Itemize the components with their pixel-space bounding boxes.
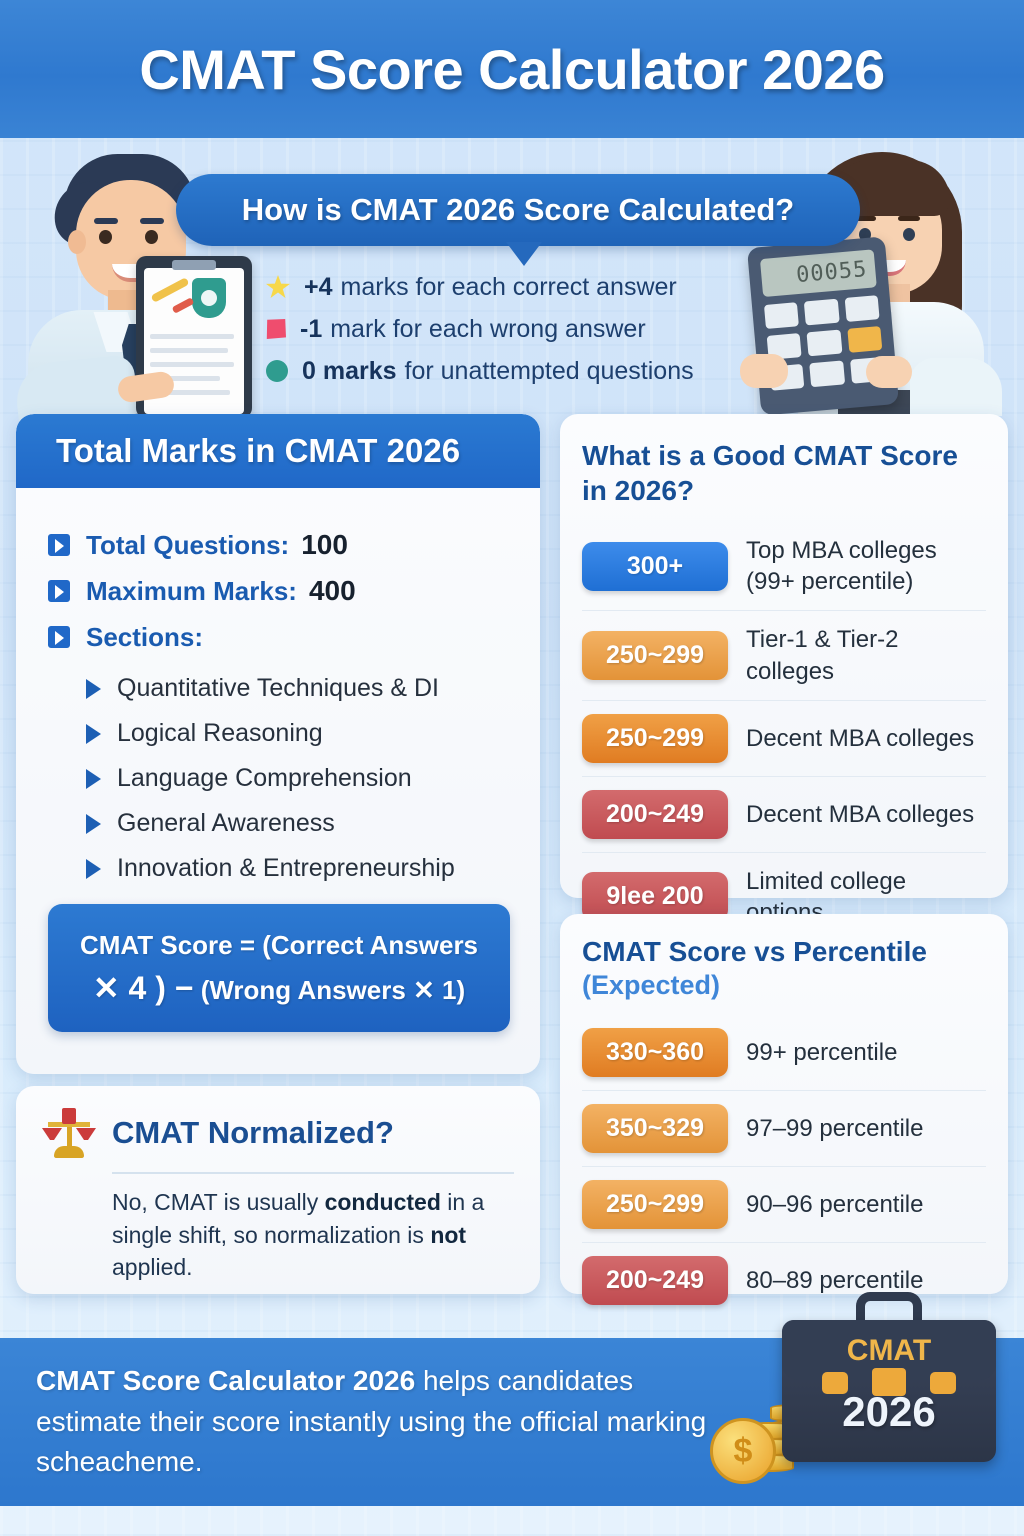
total-marks-label: Maximum Marks:	[86, 576, 297, 607]
total-marks-label: Sections:	[86, 622, 203, 653]
percentile-row: 330~360 99+ percentile	[582, 1015, 986, 1090]
sections-list: Quantitative Techniques & DI Logical Rea…	[16, 660, 540, 891]
section-item: Logical Reasoning	[86, 711, 540, 756]
section-label: Language Comprehension	[117, 764, 412, 793]
total-marks-panel: Total Marks in CMAT 2026 Total Questions…	[16, 414, 540, 1074]
total-marks-row: Maximum Marks: 400	[48, 568, 540, 614]
section-item: Innovation & Entrepreneurship	[86, 846, 540, 891]
marking-rule-value: -1	[300, 315, 322, 344]
bubble-tail	[506, 242, 542, 266]
page-header: CMAT Score Calculator 2026	[0, 0, 1024, 138]
percentile-description: 97–99 percentile	[746, 1113, 923, 1144]
balance-scales-icon	[42, 1106, 96, 1160]
section-item: General Awareness	[86, 801, 540, 846]
divider	[112, 1172, 514, 1174]
section-item: Language Comprehension	[86, 756, 540, 801]
percentile-description: 99+ percentile	[746, 1037, 897, 1068]
score-badge: 200~249	[582, 790, 728, 839]
percentile-badge: 200~249	[582, 1256, 728, 1305]
total-marks-title: Total Marks in CMAT 2026	[56, 432, 460, 470]
marking-scheme-list: +4 marks for each correct answer -1 mark…	[266, 266, 796, 392]
total-marks-row: Total Questions: 100	[48, 522, 540, 568]
percentile-panel: CMAT Score vs Percentile (Expected) 330~…	[560, 914, 1008, 1294]
percentile-rows: 330~360 99+ percentile 350~329 97–99 per…	[582, 1015, 986, 1318]
briefcase-year: 2026	[782, 1388, 996, 1436]
footer-text: CMAT Score Calculator 2026 helps candida…	[0, 1361, 730, 1483]
normalization-bold-2: not	[430, 1222, 466, 1248]
total-marks-row: Sections:	[48, 614, 540, 660]
triangle-small-icon	[86, 859, 101, 879]
percentile-row: 250~299 90–96 percentile	[582, 1166, 986, 1242]
formula-line-2: ✕ 4 ) − (Wrong Answers ✕ 1)	[93, 969, 465, 1007]
marking-rule-text: marks for each correct answer	[341, 273, 677, 302]
total-marks-value: 100	[301, 529, 348, 561]
square-marker-icon	[266, 319, 286, 339]
triangle-small-icon	[86, 724, 101, 744]
coin-symbol: $	[734, 1432, 753, 1471]
page-title: CMAT Score Calculator 2026	[139, 37, 884, 102]
marking-rule-value: +4	[304, 273, 333, 302]
score-description: Decent MBA colleges	[746, 723, 974, 754]
normalization-bold-1: conducted	[325, 1189, 441, 1215]
total-marks-header: Total Marks in CMAT 2026	[16, 414, 540, 488]
good-score-row: 200~249 Decent MBA colleges	[582, 776, 986, 852]
triangle-small-icon	[86, 679, 101, 699]
good-score-title: What is a Good CMAT Score in 2026?	[582, 438, 986, 508]
total-marks-list: Total Questions: 100 Maximum Marks: 400 …	[16, 488, 540, 660]
normalization-text-3: applied.	[112, 1254, 193, 1280]
dollar-coin-icon: $	[710, 1418, 776, 1484]
marking-rule-text: for unattempted questions	[405, 357, 694, 386]
good-score-row: 250~299 Tier-1 & Tier-2 colleges	[582, 610, 986, 699]
marking-rule: 0 marks for unattempted questions	[266, 350, 796, 392]
triangle-bullet-icon	[48, 626, 70, 648]
marking-rule: -1 mark for each wrong answer	[266, 308, 796, 350]
percentile-title: CMAT Score vs Percentile	[582, 936, 986, 968]
briefcase-icon: CMAT 2026	[782, 1292, 996, 1462]
percentile-badge: 330~360	[582, 1028, 728, 1077]
good-score-row: 250~299 Decent MBA colleges	[582, 700, 986, 776]
score-badge: 250~299	[582, 631, 728, 680]
total-marks-value: 400	[309, 575, 356, 607]
percentile-description: 90–96 percentile	[746, 1189, 923, 1220]
marking-rule-value: 0 marks	[302, 357, 397, 386]
percentile-badge: 250~299	[582, 1180, 728, 1229]
normalization-header: CMAT Normalized?	[42, 1106, 514, 1160]
calculator-display: 00055	[795, 256, 868, 287]
normalization-text-1: No, CMAT is usually	[112, 1189, 325, 1215]
illustration-band: 00055 How is CMAT 2026 Score Calculated?…	[0, 138, 1024, 410]
star-marker-icon	[266, 275, 290, 299]
percentile-row: 350~329 97–99 percentile	[582, 1090, 986, 1166]
marking-rule: +4 marks for each correct answer	[266, 266, 796, 308]
score-badge: 250~299	[582, 714, 728, 763]
normalization-panel: CMAT Normalized? No, CMAT is usually con…	[16, 1086, 540, 1294]
score-description: Tier-1 & Tier-2 colleges	[746, 624, 986, 686]
percentile-badge: 350~329	[582, 1104, 728, 1153]
triangle-bullet-icon	[48, 534, 70, 556]
question-bubble: How is CMAT 2026 Score Calculated?	[176, 174, 860, 246]
good-score-panel: What is a Good CMAT Score in 2026? 300+ …	[560, 414, 1008, 898]
good-score-rows: 300+ Top MBA colleges (99+ percentile) 2…	[582, 522, 986, 941]
formula-line-2b: (Wrong Answers ✕ 1)	[201, 975, 465, 1005]
section-item: Quantitative Techniques & DI	[86, 666, 540, 711]
briefcase-label: CMAT	[782, 1334, 996, 1368]
footer-banner: CMAT Score Calculator 2026 helps candida…	[0, 1338, 1024, 1506]
section-label: Quantitative Techniques & DI	[117, 674, 439, 703]
score-description: Top MBA colleges (99+ percentile)	[746, 535, 986, 597]
question-bubble-text: How is CMAT 2026 Score Calculated?	[242, 192, 794, 228]
circle-marker-icon	[266, 360, 288, 382]
score-badge: 300+	[582, 542, 728, 591]
formula-line-1: CMAT Score = (Correct Answers	[80, 930, 478, 961]
score-formula-box: CMAT Score = (Correct Answers ✕ 4 ) − (W…	[48, 904, 510, 1032]
score-description: Decent MBA colleges	[746, 799, 974, 830]
normalization-body: No, CMAT is usually conducted in a singl…	[112, 1186, 514, 1284]
section-label: Innovation & Entrepreneurship	[117, 854, 455, 883]
percentile-subtitle: (Expected)	[582, 970, 986, 1001]
normalization-title: CMAT Normalized?	[112, 1115, 394, 1151]
triangle-small-icon	[86, 769, 101, 789]
footer-bold-lead: CMAT Score Calculator 2026	[36, 1365, 415, 1396]
good-score-row: 300+ Top MBA colleges (99+ percentile)	[582, 522, 986, 610]
triangle-bullet-icon	[48, 580, 70, 602]
formula-line-2a: ✕ 4 ) −	[93, 970, 194, 1006]
section-label: Logical Reasoning	[117, 719, 323, 748]
total-marks-label: Total Questions:	[86, 530, 289, 561]
marking-rule-text: mark for each wrong answer	[330, 315, 645, 344]
section-label: General Awareness	[117, 809, 335, 838]
triangle-small-icon	[86, 814, 101, 834]
